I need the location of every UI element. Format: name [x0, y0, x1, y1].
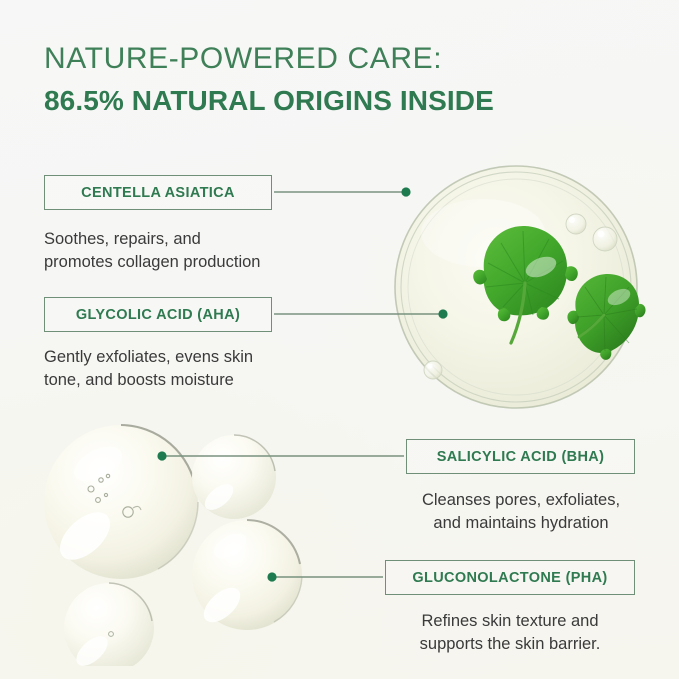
chip-label: SALICYLIC ACID (BHA) — [437, 449, 605, 465]
ingredient-description-salicylic-acid: Cleanses pores, exfoliates, and maintain… — [390, 489, 652, 536]
ingredient-description-gluconolactone: Refines skin texture and supports the sk… — [385, 610, 635, 657]
headline-line-1: NATURE-POWERED CARE: — [44, 40, 644, 78]
ingredient-chip-salicylic-acid[interactable]: SALICYLIC ACID (BHA) — [406, 439, 635, 474]
headline-line-2: 86.5% NATURAL ORIGINS INSIDE — [44, 83, 644, 119]
ingredient-chip-gluconolactone[interactable]: GLUCONOLACTONE (PHA) — [385, 560, 635, 595]
petri-dish-image — [373, 163, 659, 411]
ingredient-description-glycolic-acid: Gently exfoliates, evens skin tone, and … — [44, 346, 344, 393]
serum-droplets-image — [38, 412, 354, 666]
chip-label: GLUCONOLACTONE (PHA) — [412, 570, 607, 586]
ingredient-chip-centella-asiatica[interactable]: CENTELLA ASIATICA — [44, 175, 272, 210]
ingredient-description-centella-asiatica: Soothes, repairs, and promotes collagen … — [44, 228, 344, 275]
ingredient-chip-glycolic-acid[interactable]: GLYCOLIC ACID (AHA) — [44, 297, 272, 332]
chip-label: CENTELLA ASIATICA — [81, 185, 235, 201]
ingredient-infographic: NATURE-POWERED CARE: 86.5% NATURAL ORIGI… — [0, 0, 679, 679]
page-title: NATURE-POWERED CARE: 86.5% NATURAL ORIGI… — [44, 40, 644, 120]
chip-label: GLYCOLIC ACID (AHA) — [76, 307, 240, 323]
